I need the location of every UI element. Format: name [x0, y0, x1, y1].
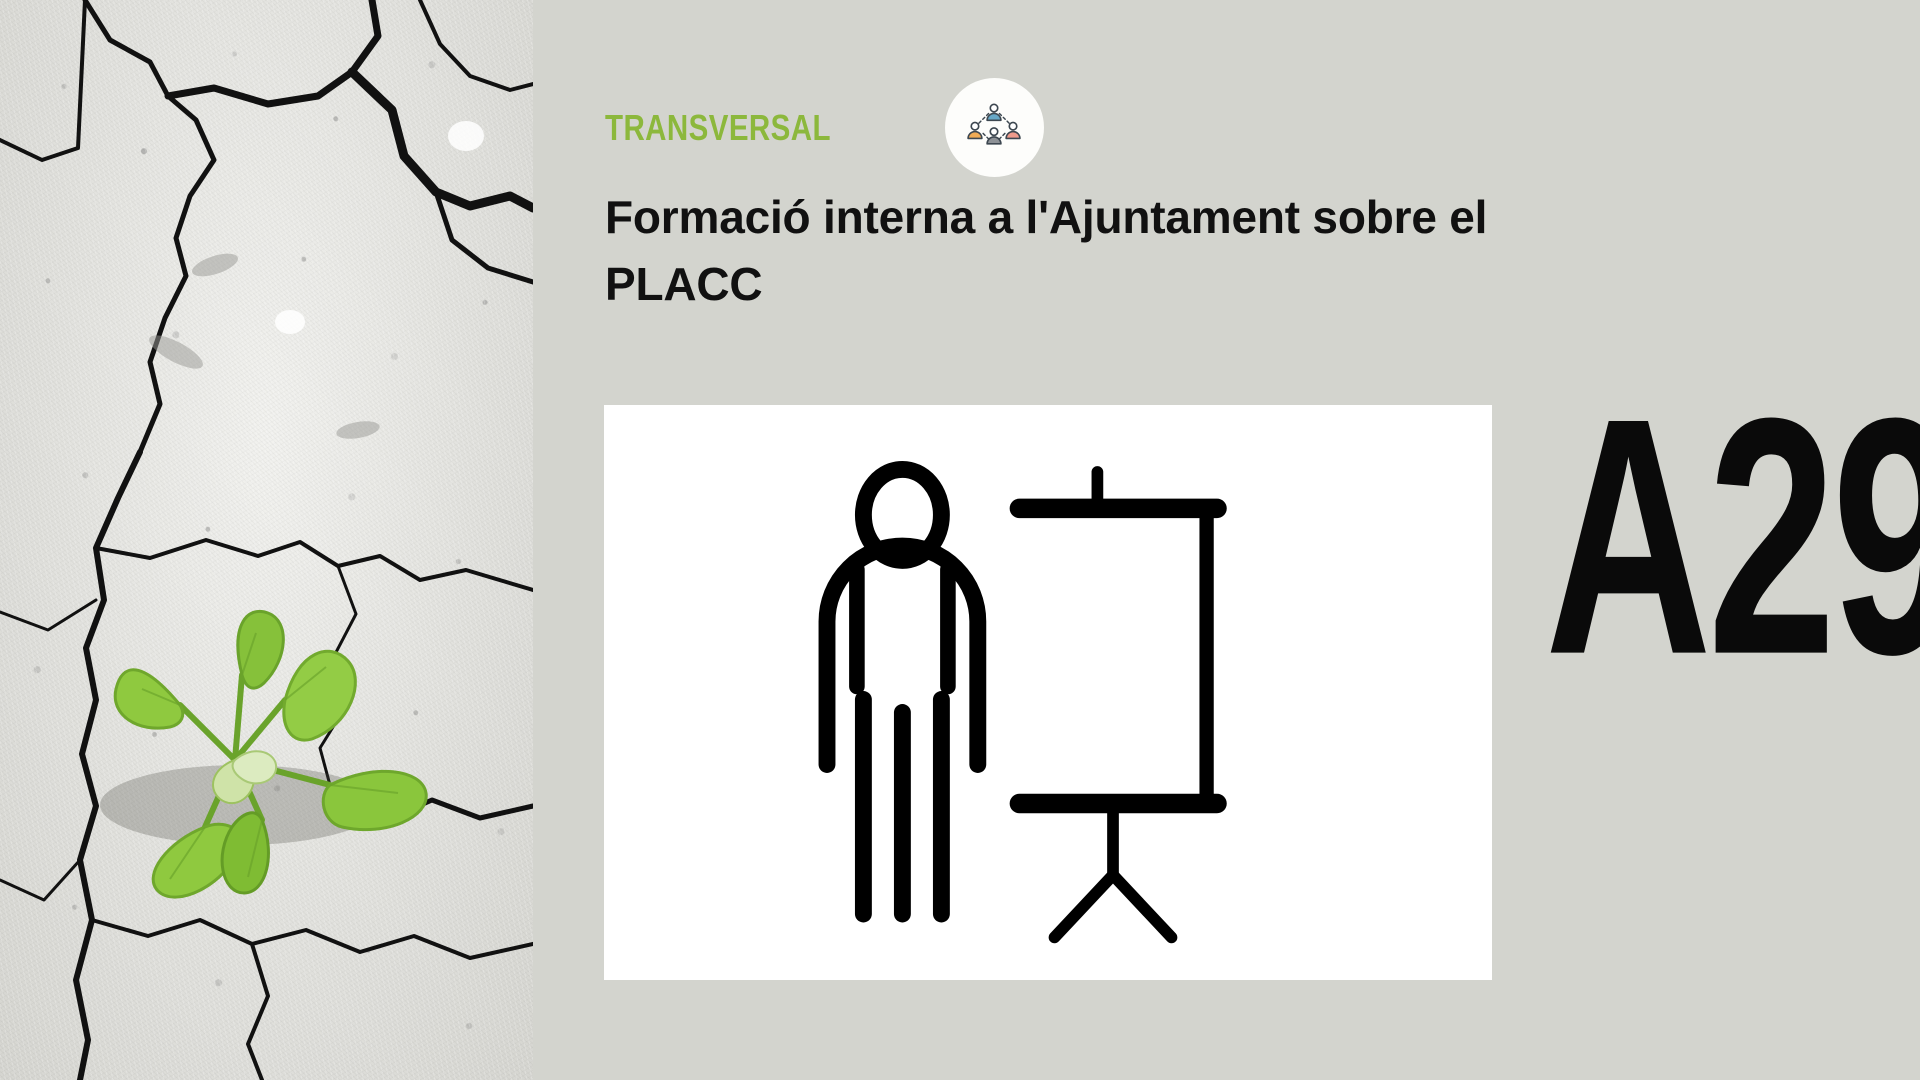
content-column: TRANSVERSAL: [533, 0, 1920, 1080]
page-title: Formació interna a l'Ajuntament sobre el…: [605, 184, 1565, 318]
illustration-panel: [604, 405, 1492, 980]
category-row: TRANSVERSAL: [605, 78, 1044, 177]
category-badge: [945, 78, 1044, 177]
action-code: A29: [1545, 368, 1790, 705]
presenter-flipchart-icon: [788, 433, 1308, 953]
slide-root: TRANSVERSAL: [0, 0, 1920, 1080]
green-seedling: [30, 555, 450, 905]
photo-seedling-cracked-earth: [0, 0, 533, 1080]
people-network-icon: [965, 99, 1023, 157]
cracks-overlay: [0, 0, 533, 1080]
category-label: TRANSVERSAL: [605, 110, 831, 146]
